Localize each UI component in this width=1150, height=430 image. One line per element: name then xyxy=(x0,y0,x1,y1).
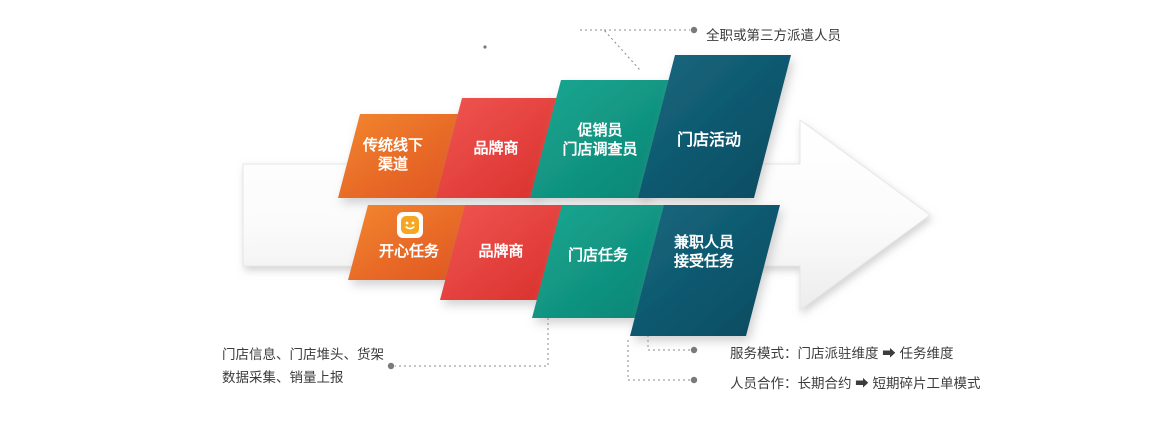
diagram-canvas: 传统线下 渠道 品牌商 促销员 门店调查员 门店活动 开心任务 品牌商 门店任务… xyxy=(0,0,1150,430)
annotation-bottom-right-service-mode: 服务模式：门店派驻维度 ➡ 任务维度 xyxy=(730,342,954,362)
diagram-graphics-layer xyxy=(0,0,1150,430)
annotation-top-right: 全职或第三方派遣人员 xyxy=(706,24,841,44)
smile-icon xyxy=(397,212,423,238)
smile-icon-glyph xyxy=(400,215,420,235)
annotation-bottom-left: 门店信息、门店堆头、货架 数据采集、销量上报 xyxy=(222,344,384,390)
annotation-bottom-right-staff-cooperation: 人员合作：长期合约 ➡ 短期碎片工单模式 xyxy=(730,372,981,392)
